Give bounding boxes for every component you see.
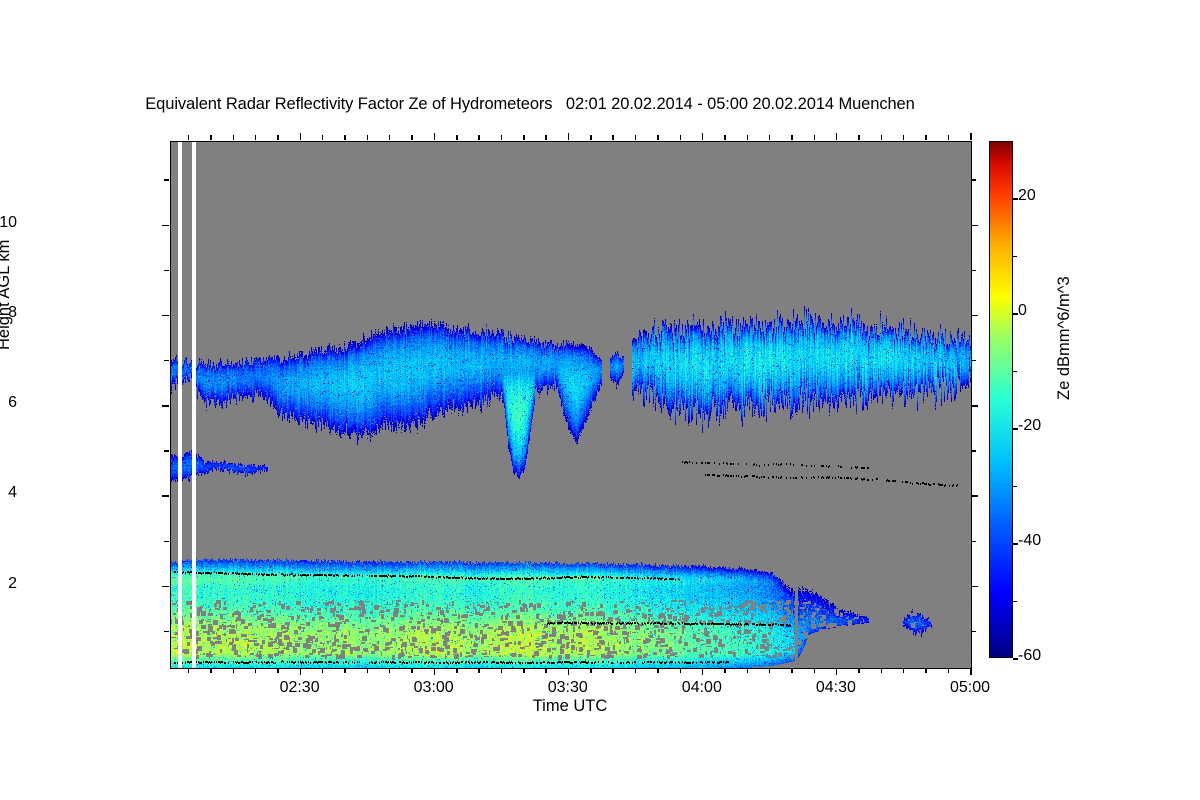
y-tick-minor-right bbox=[971, 270, 976, 272]
y-tick-right bbox=[971, 586, 978, 588]
x-tick-top bbox=[300, 133, 302, 140]
x-tick-minor bbox=[881, 668, 883, 673]
x-tick-minor-top bbox=[814, 135, 816, 140]
x-tick-minor bbox=[657, 668, 659, 673]
x-tick-minor-top bbox=[478, 135, 480, 140]
x-tick-minor bbox=[903, 668, 905, 673]
x-tick-minor-top bbox=[903, 135, 905, 140]
y-tick-label: 6 bbox=[8, 394, 17, 412]
x-tick-minor-top bbox=[545, 135, 547, 140]
x-tick-minor bbox=[680, 668, 682, 673]
y-tick-minor-right bbox=[971, 541, 976, 543]
colorbar bbox=[989, 141, 1013, 658]
y-tick-minor bbox=[164, 360, 169, 362]
x-tick-minor-top bbox=[635, 135, 637, 140]
x-tick-minor-top bbox=[948, 135, 950, 140]
x-tick-minor-top bbox=[233, 135, 235, 140]
x-tick-minor-top bbox=[344, 135, 346, 140]
x-tick-minor-top bbox=[724, 135, 726, 140]
y-tick-minor-right bbox=[971, 450, 976, 452]
x-tick-minor-top bbox=[255, 135, 257, 140]
x-tick-label: 03:00 bbox=[389, 679, 479, 697]
y-tick-minor bbox=[164, 541, 169, 543]
x-tick-minor bbox=[367, 668, 369, 673]
x-tick-minor-top bbox=[881, 135, 883, 140]
colorbar-tick-minor bbox=[1013, 486, 1017, 488]
x-tick-top bbox=[836, 133, 838, 140]
x-tick-minor bbox=[545, 668, 547, 673]
x-tick-minor bbox=[210, 668, 212, 673]
x-tick-top bbox=[568, 133, 570, 140]
colorbar-title: Ze dBmm^6/m^3 bbox=[1055, 276, 1074, 400]
y-tick-minor-right bbox=[971, 631, 976, 633]
colorbar-gradient bbox=[989, 141, 1013, 658]
x-tick-minor-top bbox=[791, 135, 793, 140]
y-tick-label: 2 bbox=[8, 575, 17, 593]
x-tick-minor bbox=[747, 668, 749, 673]
x-tick-minor bbox=[948, 668, 950, 673]
x-tick-minor-top bbox=[680, 135, 682, 140]
x-tick-minor-top bbox=[523, 135, 525, 140]
x-tick-label: 04:00 bbox=[657, 679, 747, 697]
x-tick-label: 02:30 bbox=[255, 679, 345, 697]
x-tick-minor-top bbox=[210, 135, 212, 140]
x-tick-minor-top bbox=[657, 135, 659, 140]
x-tick-minor-top bbox=[590, 135, 592, 140]
y-tick-major bbox=[162, 315, 169, 317]
x-tick-minor bbox=[724, 668, 726, 673]
x-tick-minor bbox=[456, 668, 458, 673]
y-tick-right bbox=[971, 405, 978, 407]
colorbar-tick-minor bbox=[1013, 601, 1017, 603]
x-tick-label: 04:30 bbox=[791, 679, 881, 697]
x-tick-minor bbox=[523, 668, 525, 673]
y-tick-right bbox=[971, 495, 978, 497]
x-tick-label: 05:00 bbox=[925, 679, 1015, 697]
x-tick-major bbox=[970, 668, 972, 675]
x-tick-minor-top bbox=[612, 135, 614, 140]
y-tick-minor bbox=[164, 450, 169, 452]
x-tick-minor-top bbox=[411, 135, 413, 140]
x-axis-title: Time UTC bbox=[170, 697, 970, 716]
x-tick-minor-top bbox=[322, 135, 324, 140]
x-tick-minor-top bbox=[456, 135, 458, 140]
x-tick-minor bbox=[858, 668, 860, 673]
x-tick-top bbox=[702, 133, 704, 140]
x-tick-minor bbox=[188, 668, 190, 673]
x-tick-minor-top bbox=[747, 135, 749, 140]
y-axis-title: Height AGL km bbox=[0, 240, 14, 350]
radar-figure: Equivalent Radar Reflectivity Factor Ze … bbox=[0, 0, 1200, 800]
x-tick-major bbox=[434, 668, 436, 675]
colorbar-tick-label: -20 bbox=[1018, 417, 1041, 435]
x-tick-top bbox=[434, 133, 436, 140]
x-tick-minor-top bbox=[769, 135, 771, 140]
x-tick-major bbox=[568, 668, 570, 675]
x-tick-minor bbox=[478, 668, 480, 673]
y-tick-label: 10 bbox=[0, 214, 17, 232]
y-tick-minor bbox=[164, 631, 169, 633]
y-tick-right bbox=[971, 225, 978, 227]
x-tick-minor bbox=[791, 668, 793, 673]
x-tick-minor bbox=[590, 668, 592, 673]
x-tick-minor-top bbox=[188, 135, 190, 140]
x-tick-minor bbox=[635, 668, 637, 673]
x-tick-minor-top bbox=[277, 135, 279, 140]
x-tick-minor-top bbox=[925, 135, 927, 140]
x-tick-label: 03:30 bbox=[523, 679, 613, 697]
x-tick-minor bbox=[389, 668, 391, 673]
x-tick-minor bbox=[277, 668, 279, 673]
x-tick-minor bbox=[411, 668, 413, 673]
radar-heatmap-canvas bbox=[171, 142, 971, 668]
colorbar-tick-label: -60 bbox=[1018, 647, 1041, 665]
y-tick-major bbox=[162, 586, 169, 588]
x-tick-minor bbox=[925, 668, 927, 673]
page-title: Equivalent Radar Reflectivity Factor Ze … bbox=[0, 95, 1060, 114]
x-tick-top bbox=[970, 133, 972, 140]
x-tick-major bbox=[836, 668, 838, 675]
colorbar-tick-label: -40 bbox=[1018, 532, 1041, 550]
y-tick-major bbox=[162, 405, 169, 407]
plot-area bbox=[170, 141, 972, 669]
x-tick-minor bbox=[501, 668, 503, 673]
x-tick-minor-top bbox=[367, 135, 369, 140]
colorbar-tick-label: 20 bbox=[1018, 187, 1036, 205]
y-tick-major bbox=[162, 225, 169, 227]
x-tick-minor bbox=[322, 668, 324, 673]
y-tick-right bbox=[971, 315, 978, 317]
x-tick-minor-top bbox=[389, 135, 391, 140]
x-tick-minor-top bbox=[501, 135, 503, 140]
colorbar-tick-label: 0 bbox=[1018, 302, 1027, 320]
x-tick-minor bbox=[233, 668, 235, 673]
x-tick-major bbox=[702, 668, 704, 675]
y-tick-major bbox=[162, 495, 169, 497]
y-tick-minor-right bbox=[971, 360, 976, 362]
y-tick-minor bbox=[164, 179, 169, 181]
y-tick-minor-right bbox=[971, 179, 976, 181]
x-tick-minor bbox=[814, 668, 816, 673]
x-tick-minor-top bbox=[858, 135, 860, 140]
colorbar-tick-minor bbox=[1013, 256, 1017, 258]
y-tick-minor bbox=[164, 270, 169, 272]
x-tick-minor bbox=[344, 668, 346, 673]
y-tick-label: 4 bbox=[8, 484, 17, 502]
x-tick-major bbox=[300, 668, 302, 675]
colorbar-tick-minor bbox=[1013, 371, 1017, 373]
x-tick-minor bbox=[255, 668, 257, 673]
x-tick-minor bbox=[769, 668, 771, 673]
x-tick-minor bbox=[612, 668, 614, 673]
